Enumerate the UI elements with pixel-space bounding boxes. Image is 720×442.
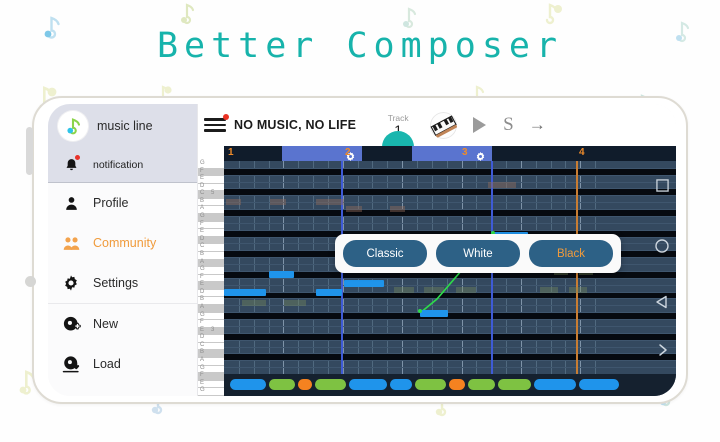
pattern-segment[interactable] (298, 379, 312, 390)
pattern-segment[interactable] (534, 379, 576, 390)
piano-key-label: A (200, 304, 204, 310)
sidebar: music line notification (48, 104, 198, 396)
measure-number: 1 (228, 147, 234, 158)
piano-icon[interactable] (430, 112, 457, 139)
deco-music-note-icon (178, 2, 200, 26)
piano-key-octave: 3 (211, 327, 214, 333)
pattern-segment[interactable] (315, 379, 346, 390)
notification-badge (74, 154, 81, 161)
sidebar-item-label: Profile (93, 196, 128, 210)
pattern-segment[interactable] (269, 379, 295, 390)
square-icon[interactable] (656, 179, 669, 197)
theme-dialog: Classic White Black (335, 234, 621, 273)
sidebar-item-profile[interactable]: Profile (48, 183, 197, 223)
triangle-left-icon[interactable] (655, 295, 669, 314)
music-note-avatar-icon (62, 115, 84, 137)
piano-key-label: F (200, 274, 204, 280)
piano-key-label: A (200, 357, 204, 363)
pattern-segment[interactable] (230, 379, 266, 390)
note-block[interactable] (269, 271, 294, 278)
menu-badge (223, 114, 229, 120)
sidebar-notification-label: notification (93, 159, 143, 171)
piano-key-label: E (200, 175, 204, 181)
slide-handle[interactable] (418, 309, 422, 313)
piano-key-label: C (200, 243, 204, 249)
theme-button-white[interactable]: White (436, 240, 520, 267)
deco-music-note-icon (540, 2, 564, 26)
phone-volume-button[interactable] (26, 127, 33, 175)
app-root: Better Composer music line (0, 0, 720, 442)
piano-key-label: E (200, 380, 204, 386)
sidebar-item-new[interactable]: New (48, 304, 197, 344)
piano-key-label: G (200, 387, 205, 393)
piano-key-label: D (200, 334, 204, 340)
sidebar-item-notification[interactable]: notification (48, 148, 197, 182)
pattern-strip[interactable] (224, 374, 676, 396)
track-selector[interactable]: Track 1 (378, 113, 418, 137)
theme-button-classic[interactable]: Classic (343, 240, 427, 267)
note-grid[interactable] (224, 161, 676, 396)
piano-key-label: F (200, 319, 204, 325)
sidebar-item-settings[interactable]: Settings (48, 263, 197, 303)
play-icon[interactable] (473, 117, 486, 133)
slide-connectors (224, 161, 676, 396)
piano-key-label: D (200, 289, 204, 295)
circle-icon[interactable] (655, 239, 669, 258)
sidebar-item-label: Load (93, 357, 121, 371)
pattern-segment[interactable] (498, 379, 531, 390)
piano-key-label: B (200, 251, 204, 257)
piano-key-label: E (200, 327, 204, 333)
theme-button-black[interactable]: Black (529, 240, 613, 267)
sidebar-item-label: Settings (93, 276, 138, 290)
pattern-segment[interactable] (468, 379, 495, 390)
arrow-right-icon[interactable]: → (529, 115, 546, 135)
note-block[interactable] (316, 289, 342, 296)
song-title: NO MUSIC, NO LIFE (234, 118, 356, 132)
bell-icon (58, 152, 84, 178)
sidebar-account-label: music line (97, 119, 153, 133)
measure-selection[interactable] (412, 146, 492, 161)
people-icon (58, 230, 84, 256)
sidebar-item-account[interactable]: music line (48, 104, 197, 148)
disc-down-icon (58, 351, 84, 377)
piano-key-label: E (200, 228, 204, 234)
shuffle-icon[interactable]: S (503, 114, 514, 136)
piano-key-label: B (200, 296, 204, 302)
hamburger-icon[interactable] (204, 116, 226, 134)
piano-key-label: A (200, 205, 204, 211)
note-block[interactable] (224, 289, 266, 296)
piano-key-label: G (200, 213, 205, 219)
piano-key-octave: 5 (211, 190, 214, 196)
piano-key-label: G (200, 160, 205, 166)
pattern-segment[interactable] (415, 379, 446, 390)
piano-key-label: G (200, 266, 205, 272)
piano-key-label: F (200, 168, 204, 174)
pattern-segment[interactable] (390, 379, 412, 390)
phone-camera-dot (25, 276, 36, 287)
chevron-right-icon[interactable] (657, 343, 669, 362)
piano-key-label: C (200, 190, 204, 196)
piano-key-label: F (200, 372, 204, 378)
sidebar-item-label: New (93, 317, 118, 331)
piano-key-label: B (200, 349, 204, 355)
pattern-segment[interactable] (449, 379, 465, 390)
piano-keyboard[interactable]: GFEDC5BAGFEDCBAGFEDBAGFE3DCBAGFEG (198, 146, 224, 396)
person-icon (58, 190, 84, 216)
measure-number: 2 (345, 147, 351, 158)
sidebar-item-label: Community (93, 236, 156, 250)
measure-number: 3 (462, 147, 468, 158)
editor-pane: NO MUSIC, NO LIFE Track 1 (198, 104, 676, 396)
piano-key-label: D (200, 183, 204, 189)
page-title: Better Composer (0, 26, 720, 66)
disc-plus-icon (58, 311, 84, 337)
sidebar-item-load[interactable]: Load (48, 344, 197, 384)
piano-key-label: G (200, 365, 205, 371)
piano-key-label: A (200, 259, 204, 265)
piano-key-label: F (200, 221, 204, 227)
piano-key-label: G (200, 312, 205, 318)
note-block[interactable] (420, 310, 448, 317)
avatar (58, 111, 88, 141)
piano-key-label: C (200, 342, 204, 348)
phone-screen: music line notification (48, 104, 676, 396)
gear-icon (58, 270, 84, 296)
note-block[interactable] (344, 280, 384, 287)
measure-number: 4 (579, 147, 585, 158)
piano-key-label: B (200, 198, 204, 204)
pattern-segment[interactable] (349, 379, 387, 390)
measure-ruler[interactable]: 1 2 3 4 (224, 146, 676, 161)
piano-key[interactable]: G (198, 388, 224, 396)
pattern-segment[interactable] (579, 379, 619, 390)
piano-key-label: E (200, 281, 204, 287)
sidebar-item-community[interactable]: Community (48, 223, 197, 263)
sidebar-header: music line notification (48, 104, 197, 182)
piano-key-label: D (200, 236, 204, 242)
keyboard-top-pad (198, 146, 224, 161)
editor-toolbar: NO MUSIC, NO LIFE Track 1 (198, 104, 676, 146)
